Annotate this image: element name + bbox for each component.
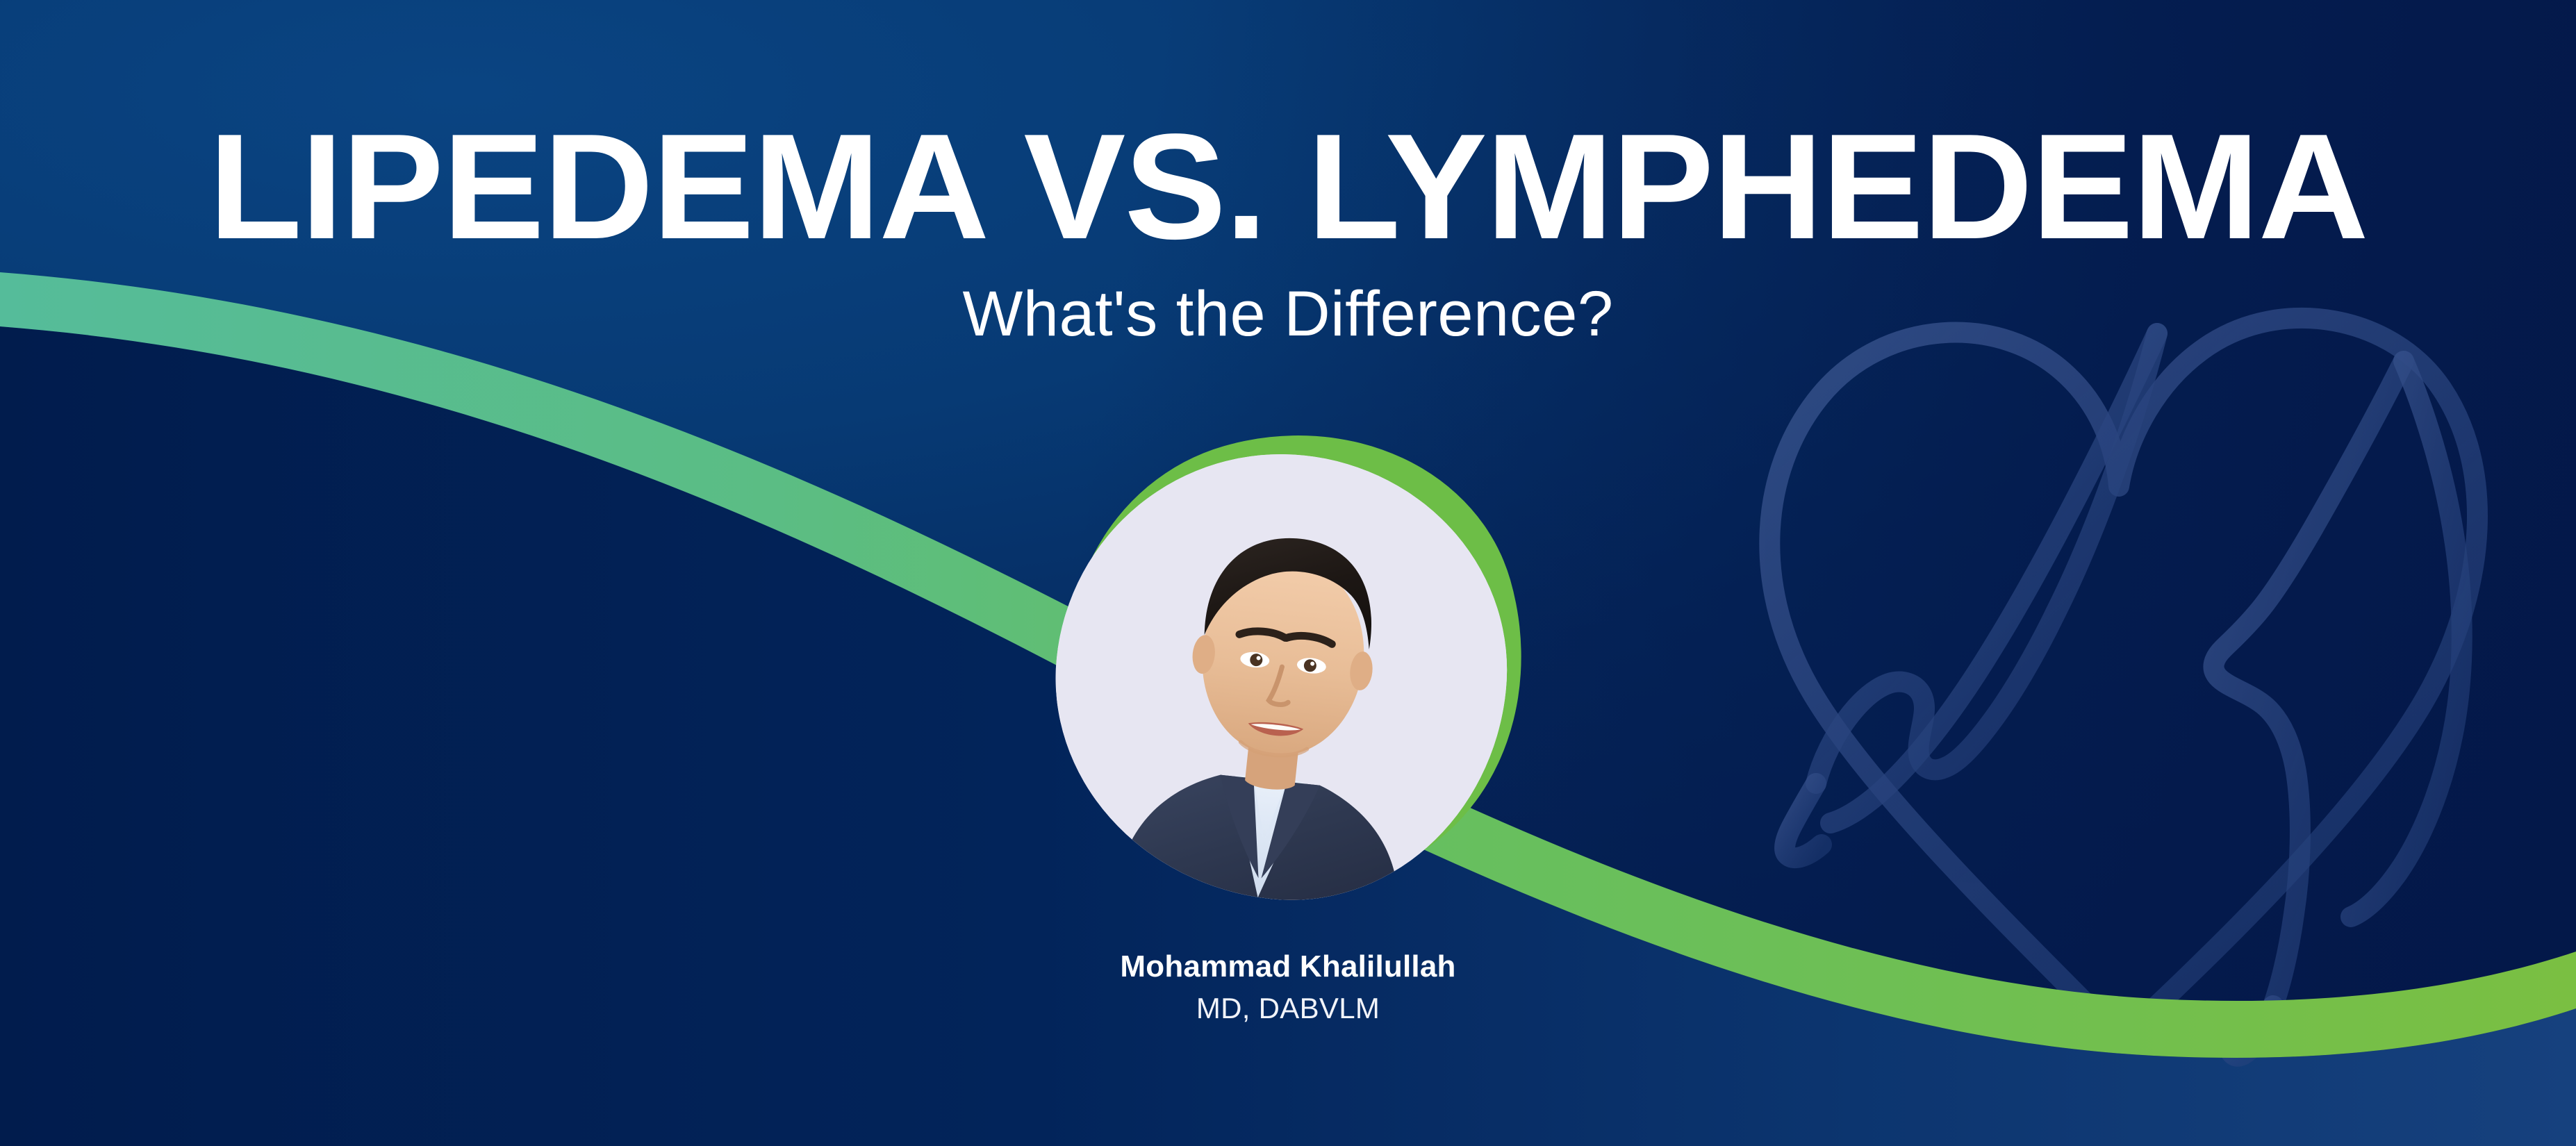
portrait-illustration [1034,432,1528,921]
lavender-blob-backdrop [1034,432,1528,921]
speaker-name: Mohammad Khalilullah [0,949,2576,984]
page-subtitle: What's the Difference? [0,278,2576,351]
speaker-portrait [1049,445,1535,917]
speaker-credentials: MD, DABVLM [0,992,2576,1025]
page-title: LIPEDEMA VS. LYMPHEDEMA [0,111,2576,261]
slide-canvas: LIPEDEMA VS. LYMPHEDEMA What's the Diffe… [0,0,2576,1146]
